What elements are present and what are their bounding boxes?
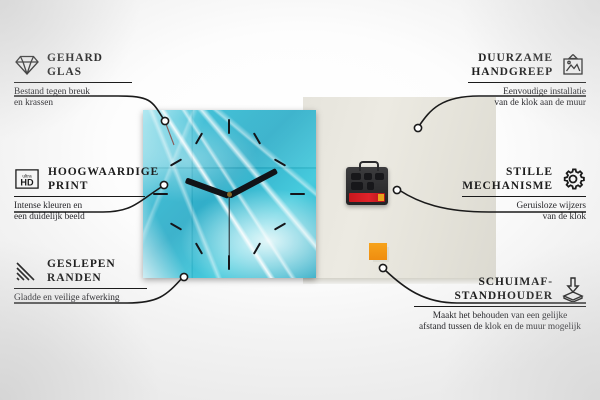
callout-title: HOOGWAARDIGEPRINT	[48, 166, 159, 193]
callout-title: DUURZAMEHANDGREEP	[468, 52, 553, 79]
mechanism-bolt-a	[351, 173, 361, 180]
aa-battery	[349, 193, 385, 202]
mechanism-bolt-d	[351, 182, 363, 190]
callout-divider	[14, 288, 147, 289]
callout-subtitle: Eenvoudige installatievan de klok aan de…	[468, 87, 586, 110]
wall-clock-face	[143, 110, 316, 278]
callout-divider	[414, 306, 586, 307]
spacer-stack-icon	[560, 276, 586, 302]
mechanism-bolt-e	[367, 182, 374, 190]
foam-spacer-pad	[369, 243, 387, 260]
clock-tick-3	[290, 193, 305, 195]
clock-center-pin	[227, 192, 232, 197]
gear-icon	[560, 166, 586, 192]
clock-movement-mechanism	[346, 167, 388, 205]
callout-subtitle: Geruisloze wijzersvan de klok	[462, 201, 586, 224]
mechanism-hanger	[359, 161, 379, 171]
infographic-stage: GEHARDGLAS Bestand tegen breuken krassen…	[0, 0, 600, 400]
picture-frame-icon	[560, 52, 586, 78]
callout-divider	[14, 196, 145, 197]
callout-subtitle: Gladde en veilige afwerking	[14, 293, 147, 304]
callout-title: GEHARDGLAS	[47, 52, 103, 79]
callout-subtitle: Bestand tegen breuken krassen	[14, 87, 132, 110]
callout-geslepen-randen: GESLEPENRANDEN Gladde en veilige afwerki…	[14, 258, 147, 304]
callout-duurzame-handgreep: DUURZAMEHANDGREEP Eenvoudige installatie…	[468, 52, 586, 110]
callout-subtitle: Intense kleuren eneen duidelijk beeld	[14, 201, 145, 224]
callout-divider	[468, 82, 586, 83]
beveled-edges-icon	[14, 258, 40, 284]
mechanism-bolt-c	[375, 173, 384, 180]
callout-subtitle: Maakt het behouden van een gelijkeafstan…	[414, 311, 586, 334]
clock-tick-12	[228, 119, 230, 134]
callout-title: SCHUIMAF-STANDHOUDER	[414, 276, 553, 303]
svg-text:HD: HD	[20, 178, 34, 188]
ultra-hd-icon: ultra HD	[14, 166, 41, 192]
callout-stille-mechanisme: STILLEMECHANISME Geruisloze wijzersvan d…	[462, 166, 586, 224]
callout-hoogwaardige-print: ultra HD HOOGWAARDIGEPRINT Intense kleur…	[14, 166, 145, 224]
callout-title: STILLEMECHANISME	[462, 166, 553, 193]
callout-title: GESLEPENRANDEN	[47, 258, 116, 285]
callout-schuimaf-standhouder: SCHUIMAF-STANDHOUDER Maakt het behouden …	[414, 276, 586, 334]
callout-divider	[462, 196, 586, 197]
diamond-icon	[14, 52, 40, 78]
mechanism-bolt-b	[364, 173, 372, 180]
callout-divider	[14, 82, 132, 83]
callout-gehard-glas: GEHARDGLAS Bestand tegen breuken krassen	[14, 52, 132, 110]
clock-second-hand	[228, 196, 229, 260]
clock-tick-9	[153, 193, 168, 195]
battery-terminal	[378, 194, 384, 201]
